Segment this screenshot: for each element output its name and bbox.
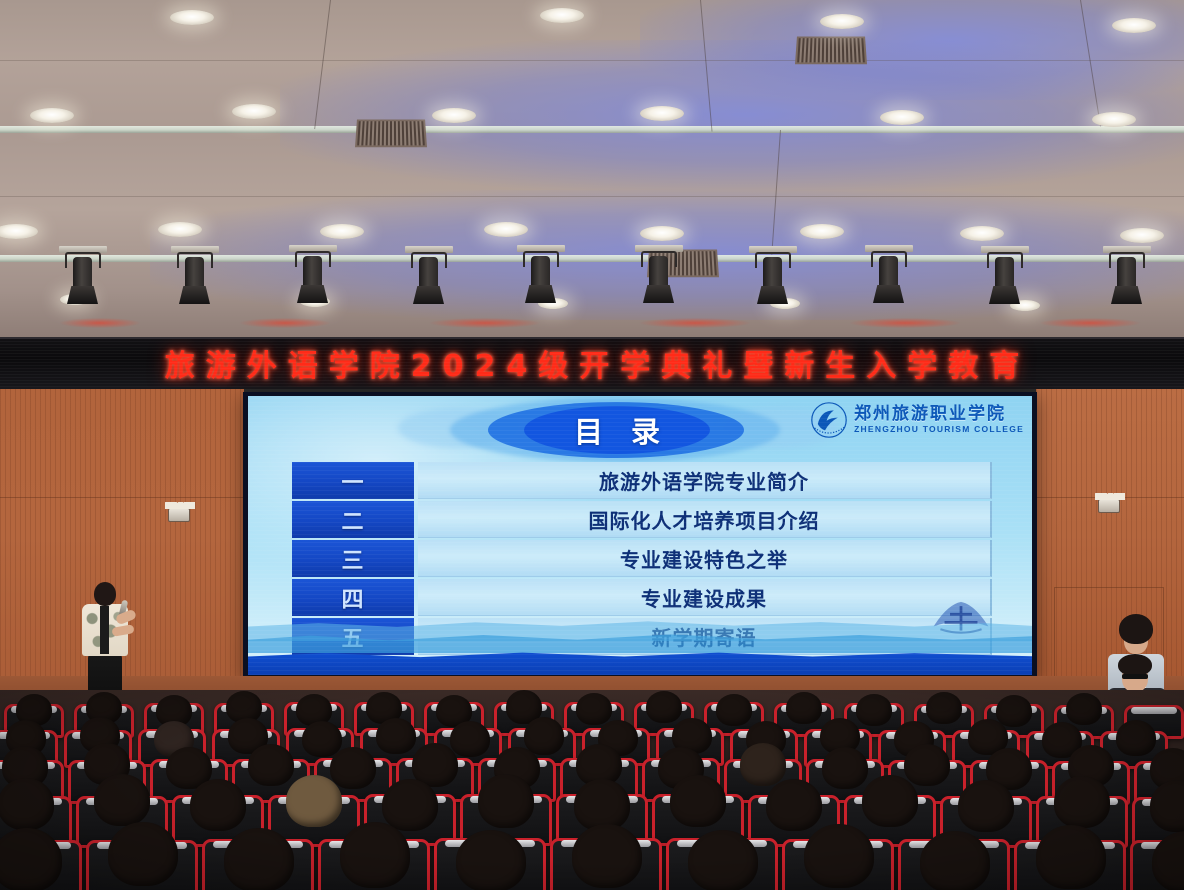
audience-head xyxy=(996,695,1032,727)
slide-title: 目 录 xyxy=(524,410,710,450)
audience-head xyxy=(920,831,990,890)
downlight xyxy=(880,110,924,125)
stage-spotlight xyxy=(174,252,216,310)
audience-head xyxy=(478,774,534,828)
wall-seam xyxy=(0,497,244,498)
audience-head xyxy=(330,747,376,789)
ceiling-blue-glow xyxy=(640,0,1184,100)
downlight xyxy=(820,14,864,29)
audience-head xyxy=(190,779,246,831)
audience-head xyxy=(248,744,294,786)
audience-head xyxy=(108,822,178,886)
wall-light-fixture xyxy=(168,508,190,522)
downlight xyxy=(640,106,684,121)
audience-head xyxy=(94,774,150,826)
downlight xyxy=(1120,228,1164,243)
audience-head xyxy=(958,780,1014,832)
audience-head xyxy=(904,744,950,786)
toc-row: 一 旅游外语学院专业简介 xyxy=(292,462,992,499)
audience-head xyxy=(0,778,54,830)
school-logo: 郑州旅游职业学院 ZHENGZHOU TOURISM COLLEGE xyxy=(809,400,1024,440)
hvac-vent xyxy=(355,119,427,147)
audience-head xyxy=(574,779,630,831)
audience-head xyxy=(572,824,642,888)
stage-spotlight xyxy=(520,251,562,309)
wall-light-fixture xyxy=(1098,499,1120,513)
stage-spotlight xyxy=(868,251,910,309)
audience-head xyxy=(456,830,526,890)
downlight xyxy=(1092,112,1136,127)
ceiling-cable xyxy=(771,130,781,255)
auditorium-photo: 旅游外语学院2024级开学典礼暨新生入学教育 目 录 xyxy=(0,0,1184,890)
audience-head xyxy=(1116,720,1156,756)
audience-head xyxy=(0,828,62,890)
audience-head xyxy=(822,747,868,789)
toc-number: 一 xyxy=(292,462,414,499)
audience-head xyxy=(646,691,682,723)
school-name-en: ZHENGZHOU TOURISM COLLEGE xyxy=(854,425,1024,434)
audience-head xyxy=(576,693,612,725)
toc-label: 国际化人才培养项目介绍 xyxy=(418,501,992,538)
stage-spotlight xyxy=(292,251,334,309)
speaker-inner-top xyxy=(100,606,109,654)
led-spill-glow xyxy=(240,318,330,328)
downlight xyxy=(158,222,202,237)
audience-head xyxy=(688,830,758,890)
ceiling-panel-line xyxy=(0,60,1184,61)
stage-spotlight xyxy=(984,252,1026,310)
ceiling xyxy=(0,0,1184,338)
hvac-vent xyxy=(795,36,867,64)
downlight xyxy=(800,224,844,239)
ceiling-blue-glow xyxy=(280,40,1184,190)
audience-head xyxy=(804,824,874,888)
audience-head xyxy=(450,721,490,757)
downlight xyxy=(432,108,476,123)
slide-wave-graphic xyxy=(248,603,1032,675)
audience-head xyxy=(224,828,294,890)
glasses-icon xyxy=(1122,674,1148,679)
led-banner-text: 旅游外语学院2024级开学典礼暨新生入学教育 xyxy=(154,341,1031,385)
attendee-hair xyxy=(1119,614,1153,644)
audience-head xyxy=(766,779,822,831)
led-spill-glow xyxy=(850,318,960,328)
audience-head xyxy=(524,717,564,755)
audience-head xyxy=(786,692,822,724)
downlight xyxy=(540,8,584,23)
toc-number: 三 xyxy=(292,540,414,577)
audience-head xyxy=(382,779,438,831)
led-banner: 旅游外语学院2024级开学典礼暨新生入学教育 xyxy=(0,337,1184,389)
downlight xyxy=(1112,18,1156,33)
audience-head xyxy=(716,694,752,726)
toc-label: 专业建设特色之举 xyxy=(418,540,992,577)
audience-head xyxy=(1054,776,1110,828)
audience-head xyxy=(926,692,962,724)
downlight xyxy=(170,10,214,25)
audience-head xyxy=(856,694,892,726)
led-spill-glow xyxy=(430,318,540,328)
led-spill-glow xyxy=(640,318,750,328)
audience-head xyxy=(340,822,410,888)
ceiling-cable xyxy=(700,0,713,132)
audience-head xyxy=(376,718,416,754)
audience-head xyxy=(862,775,918,827)
projection-screen-frame: 目 录 郑州旅游职业学院 ZHENGZHOU TOURISM COLLEGE 一… xyxy=(243,392,1037,680)
stage-spotlight xyxy=(1106,252,1148,310)
school-logo-text: 郑州旅游职业学院 ZHENGZHOU TOURISM COLLEGE xyxy=(854,406,1024,434)
audience-head xyxy=(1066,693,1102,725)
downlight xyxy=(232,104,276,119)
ceiling-panel-line xyxy=(0,196,1184,197)
downlight xyxy=(640,226,684,241)
school-name-cn: 郑州旅游职业学院 xyxy=(854,406,1024,423)
attendee-hair xyxy=(1118,654,1152,676)
downlight xyxy=(320,224,364,239)
ceiling-seam xyxy=(0,126,1184,133)
projection-screen: 目 录 郑州旅游职业学院 ZHENGZHOU TOURISM COLLEGE 一… xyxy=(248,396,1032,675)
toc-row: 三 专业建设特色之举 xyxy=(292,540,992,577)
audience-head xyxy=(670,775,726,827)
audience-head xyxy=(1036,825,1106,889)
led-spill-glow xyxy=(1040,318,1140,328)
stage-spotlight xyxy=(62,252,104,310)
stage-spotlight xyxy=(638,251,680,309)
audience-head xyxy=(286,775,342,827)
stage-spotlight xyxy=(408,252,450,310)
audience-head xyxy=(740,743,786,786)
ceiling-cable xyxy=(314,0,331,129)
toc-number: 二 xyxy=(292,501,414,538)
stage-spotlight xyxy=(752,252,794,310)
speaker-head xyxy=(94,582,116,606)
led-spill-glow xyxy=(60,318,140,328)
audience-head xyxy=(302,721,342,757)
downlight xyxy=(960,226,1004,241)
downlight xyxy=(484,222,528,237)
downlight xyxy=(30,108,74,123)
downlight xyxy=(0,224,38,239)
audience-area xyxy=(0,690,1184,890)
toc-row: 二 国际化人才培养项目介绍 xyxy=(292,501,992,538)
swoosh-logo-icon xyxy=(809,400,849,440)
toc-label: 旅游外语学院专业简介 xyxy=(418,462,992,499)
ceiling-cable xyxy=(1080,0,1101,127)
